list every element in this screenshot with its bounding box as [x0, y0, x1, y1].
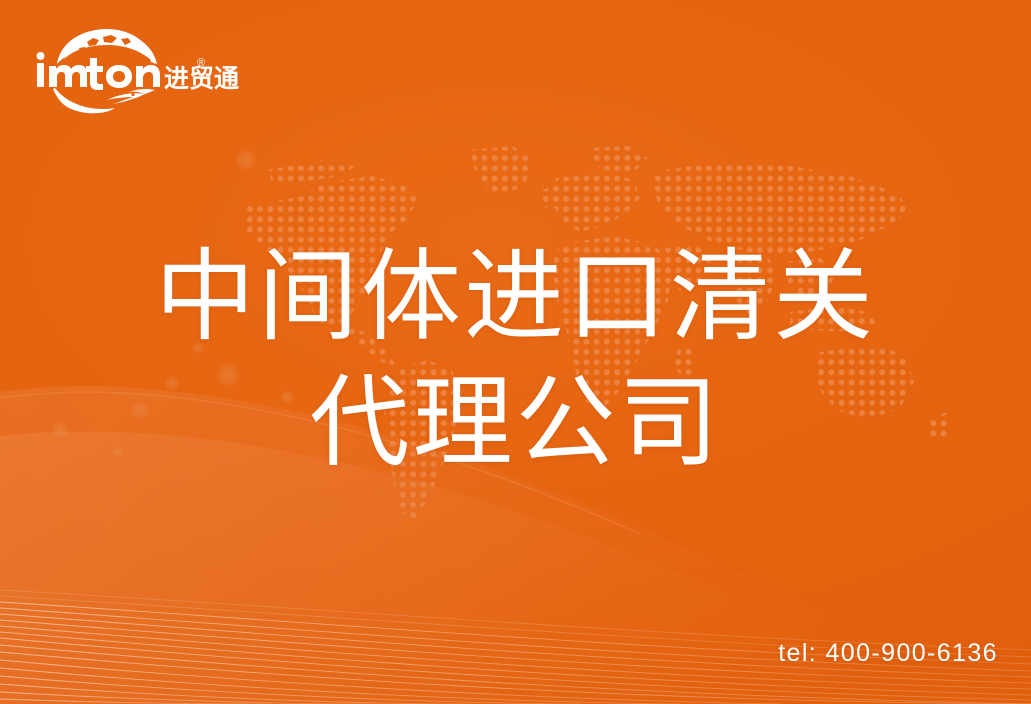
contact-phone[interactable]: tel: 400-900-6136	[778, 639, 998, 668]
globe-icon	[57, 29, 157, 64]
registered-mark-icon: ®	[197, 57, 205, 69]
svg-text:®: ®	[197, 57, 205, 69]
logo-wordmark-latin	[37, 52, 161, 90]
headline-line-2: 代理公司	[0, 360, 1031, 486]
brand-logo[interactable]: 进贸通 ®	[33, 26, 213, 104]
page-title: 中间体进口清关 代理公司	[0, 234, 1031, 486]
promo-banner: 进贸通 ® 中间体进口清关 代理公司 tel: 400-900-6136	[0, 0, 1031, 704]
headline-line-1: 中间体进口清关	[0, 234, 1031, 360]
